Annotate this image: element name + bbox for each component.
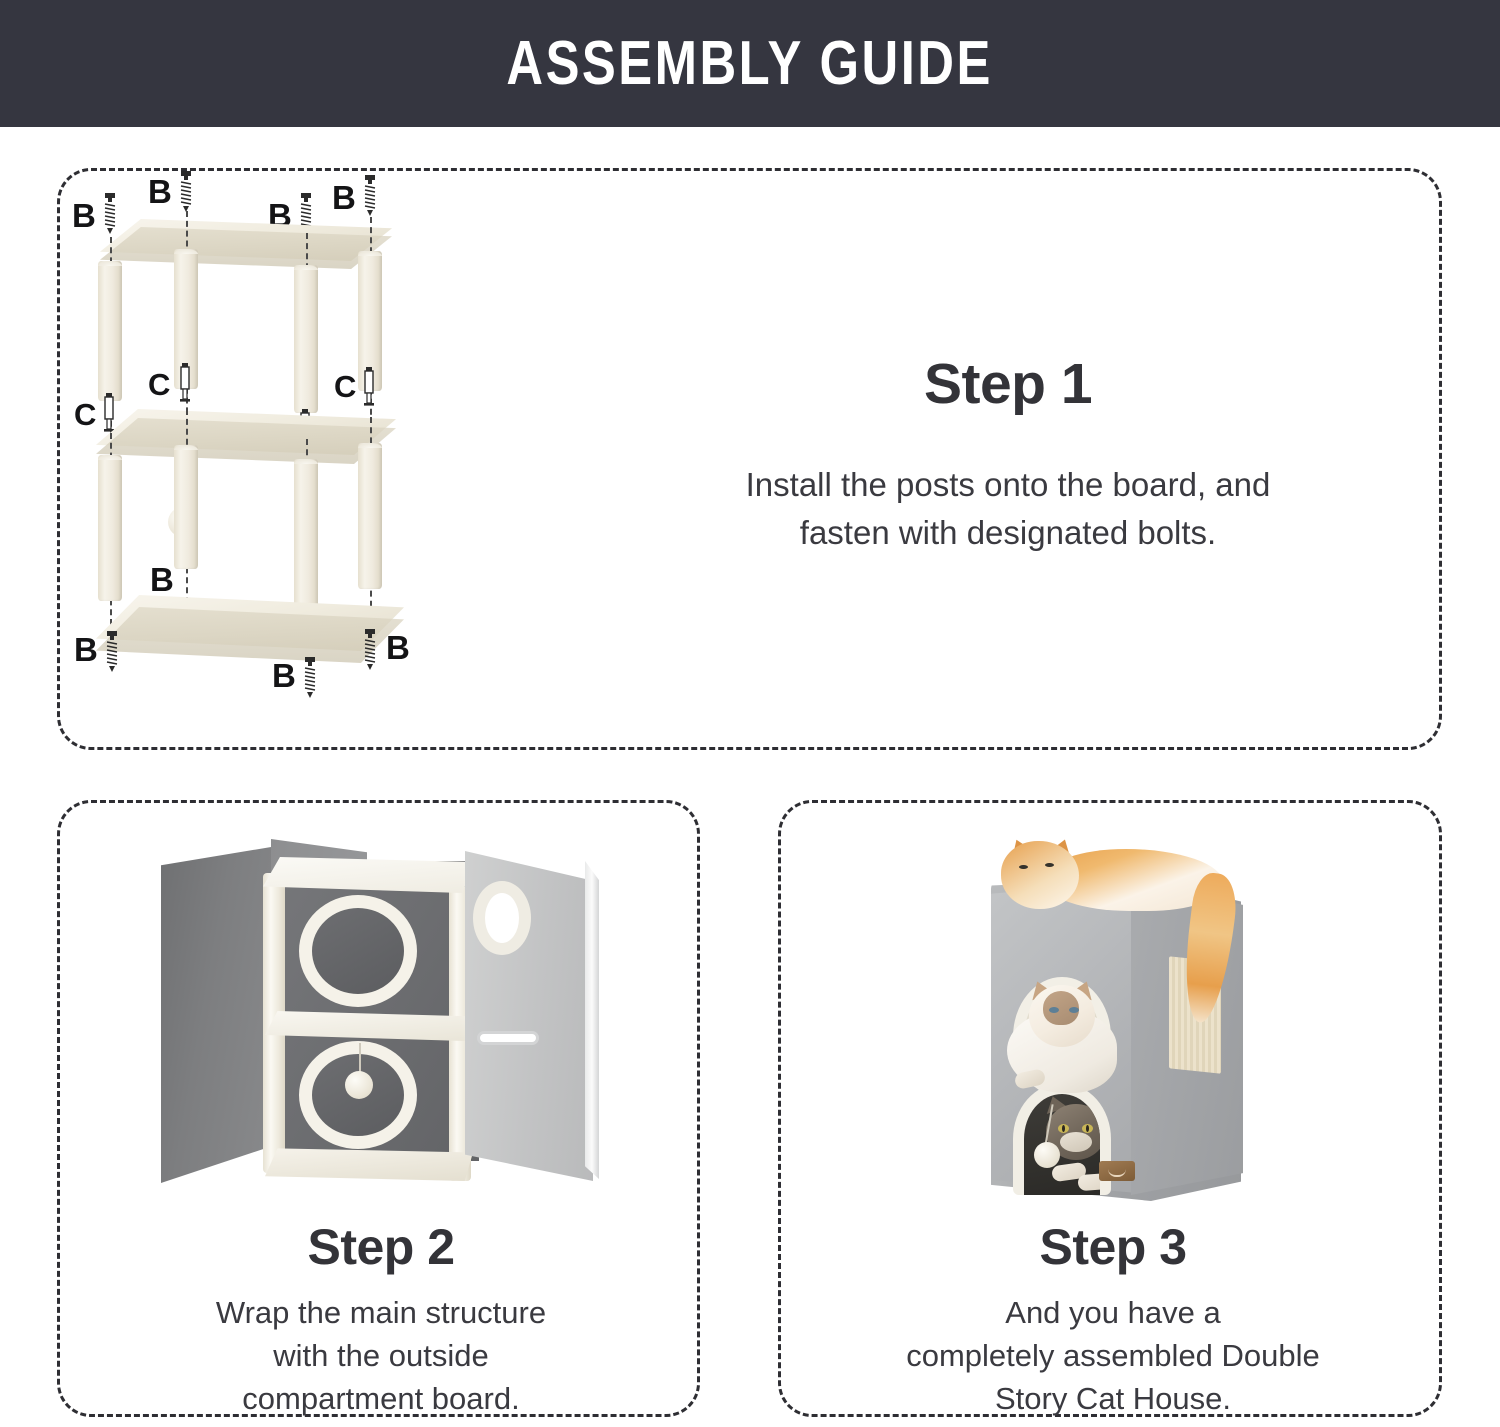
scratching-post (98, 455, 122, 601)
part-label-b-2: B (148, 175, 172, 208)
step-3-body-line-1: And you have a (793, 1292, 1433, 1335)
scratching-post (294, 459, 318, 625)
part-label-b-4: B (332, 181, 356, 214)
pom-pom-ball (1034, 1142, 1060, 1168)
step-1-text-block: Step 1 Install the posts onto the board,… (643, 351, 1373, 557)
cat-muzzle (1060, 1132, 1092, 1152)
step-1-body-line-1: Install the posts onto the board, and (643, 461, 1373, 509)
bottom-board (265, 1147, 473, 1181)
barrel-nut-icon (102, 393, 116, 435)
step-1-body-line-2: fasten with designated bolts. (643, 509, 1373, 557)
cat-eye (1049, 1007, 1059, 1013)
bolt-icon (302, 657, 318, 701)
round-porthole-opening (473, 881, 531, 955)
cat-head (1001, 841, 1079, 909)
part-label-b-7: B (272, 659, 296, 692)
step-3-body-line-3: Story Cat House. (793, 1378, 1433, 1421)
step-3-text-block: Step 3 And you have a completely assembl… (793, 1218, 1433, 1420)
bolt-icon (178, 171, 194, 215)
cat-eye (1058, 1124, 1069, 1133)
part-label-c-2: C (148, 369, 170, 400)
upper-oval-opening (299, 895, 417, 1007)
bolt-icon (362, 629, 378, 673)
exploded-assembly-diagram: B B B B (60, 171, 420, 701)
assembly-guide-page: ASSEMBLY GUIDE B B B (0, 0, 1500, 1427)
part-label-b-5: B (150, 563, 174, 596)
step-1-panel: B B B B (57, 168, 1442, 750)
page-header: ASSEMBLY GUIDE (0, 0, 1500, 127)
part-label-c-4: C (334, 371, 356, 402)
step-2-body-line-3: compartment board. (75, 1378, 687, 1421)
part-label-c-1: C (74, 399, 96, 430)
part-label-b-8: B (386, 631, 410, 664)
cat-tabby (1026, 1090, 1111, 1195)
bolt-icon (104, 631, 120, 675)
scratching-post (174, 445, 198, 569)
part-label-b-6: B (74, 633, 98, 666)
cat-eye (1069, 1007, 1079, 1013)
step-2-panel: Step 2 Wrap the main structure with the … (57, 800, 700, 1417)
cat-eye (1045, 863, 1054, 867)
part-label-b-1: B (72, 199, 96, 232)
step-3-body-line-2: completely assembled Double (793, 1335, 1433, 1378)
slot-handle (477, 1031, 539, 1045)
scratching-post (358, 443, 382, 589)
fabric-wing-right-edge (585, 861, 599, 1179)
step-2-body-line-1: Wrap the main structure (75, 1292, 687, 1335)
cat-ragdoll (1007, 979, 1123, 1095)
pom-pom-ball (345, 1071, 373, 1099)
brand-logo-tag (1099, 1161, 1135, 1181)
step-2-text-block: Step 2 Wrap the main structure with the … (75, 1218, 687, 1420)
scratching-post (294, 265, 318, 413)
lower-oval-opening (1013, 1083, 1111, 1195)
step-3-illustration (951, 831, 1331, 1221)
step-2-title: Step 2 (75, 1218, 687, 1276)
step-3-title: Step 3 (793, 1218, 1433, 1276)
bolt-icon (102, 193, 118, 237)
step-2-body-line-2: with the outside (75, 1335, 687, 1378)
step-2-illustration (153, 835, 623, 1220)
cat-eye (1019, 865, 1028, 869)
bolt-icon (362, 175, 378, 219)
step-1-title: Step 1 (643, 351, 1373, 417)
barrel-nut-icon (362, 367, 376, 409)
cat-eye (1082, 1124, 1093, 1133)
step-3-panel: Step 3 And you have a completely assembl… (778, 800, 1442, 1417)
barrel-nut-icon (178, 363, 192, 405)
scratching-post (98, 261, 122, 401)
page-title: ASSEMBLY GUIDE (507, 28, 993, 99)
